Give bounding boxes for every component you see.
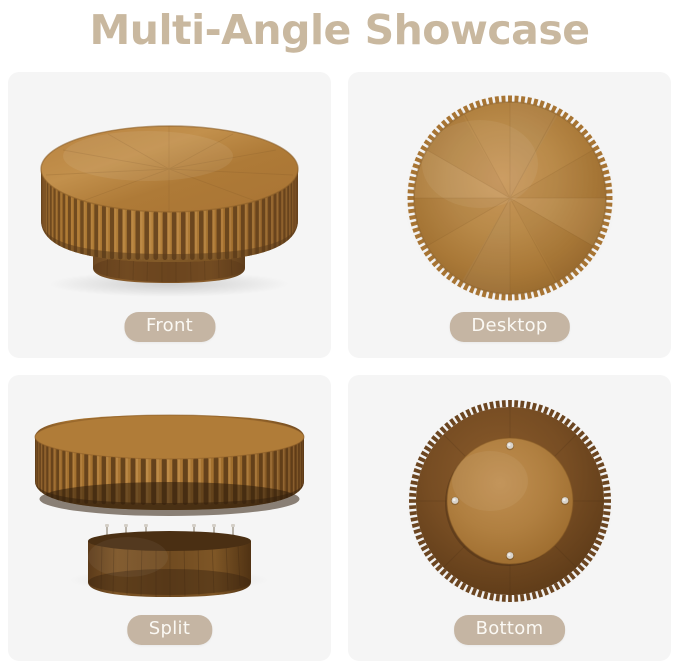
showcase-page: Multi-Angle Showcase xyxy=(0,0,679,658)
panel-desktop[interactable]: Desktop xyxy=(348,72,671,358)
badge-bottom[interactable]: Bottom xyxy=(454,615,566,645)
panel-bottom[interactable]: Bottom xyxy=(348,375,671,661)
badge-desktop[interactable]: Desktop xyxy=(449,312,569,342)
badge-front[interactable]: Front xyxy=(124,312,215,342)
page-title: Multi-Angle Showcase xyxy=(0,0,679,60)
badge-split[interactable]: Split xyxy=(127,615,212,645)
panel-grid: Front xyxy=(8,72,671,650)
panel-split[interactable]: Split xyxy=(8,375,331,661)
panel-front[interactable]: Front xyxy=(8,72,331,358)
